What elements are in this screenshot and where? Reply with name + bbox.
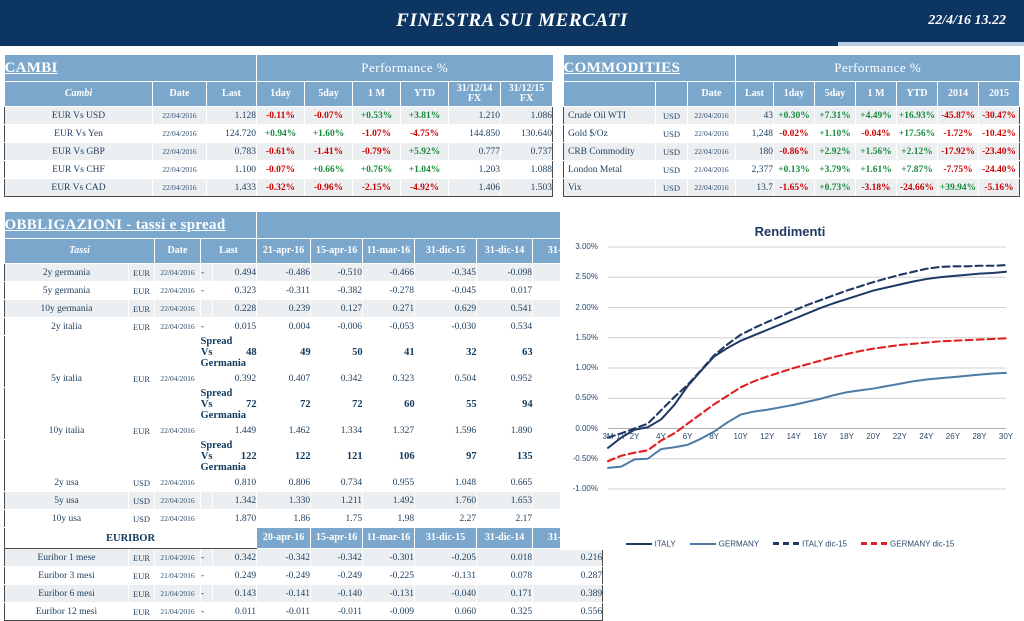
euribor-hist-value: -0.249 (311, 567, 363, 585)
obbligazioni-title-spacer (257, 212, 603, 239)
bond-sign (201, 474, 213, 492)
obbligazioni-title: OBBLIGAZIONI - tassi e spread (5, 212, 257, 239)
cambi-perf-d5: -0.07% (305, 107, 353, 125)
table-row[interactable]: 2y germaniaEUR22/04/2016-0.494-0.486-0.5… (5, 264, 603, 282)
chart-x-tick-label: 16Y (807, 432, 833, 441)
euribor-hist-value: 0.287 (533, 567, 603, 585)
table-row[interactable]: EUR Vs CHF22/04/20161.100-0.07%+0.66%+0.… (5, 161, 553, 179)
spread-pad (5, 388, 201, 422)
bond-currency: EUR (129, 264, 155, 282)
table-row[interactable]: Euribor 3 mesiEUR21/04/2016-0.249-0.249-… (5, 567, 603, 585)
spread-row[interactable]: Spread Vs Germania484950413263104 (5, 336, 603, 370)
commodity-name: Gold $/Oz (564, 125, 656, 143)
bond-date: 22/04/2016 (155, 370, 201, 388)
bond-sign (201, 510, 213, 528)
euribor-date: 21/04/2016 (155, 603, 201, 621)
bond-hist-value: -0.098 (477, 264, 533, 282)
chart-x-tick-label: 4Y (648, 432, 674, 441)
banner-underline-left (0, 42, 838, 46)
spread-value: 60 (363, 388, 415, 422)
table-row[interactable]: Gold $/OzUSD22/04/20161,248-0.02%+1.10%-… (564, 125, 1020, 143)
spread-value: 72 (257, 388, 311, 422)
chart-x-tick-label: 24Y (913, 432, 939, 441)
bond-hist-value: 1.596 (415, 422, 477, 440)
obb-col-15apr: 15-apr-16 (311, 239, 363, 264)
table-row[interactable]: Euribor 12 mesiEUR21/04/2016-0.011-0.011… (5, 603, 603, 621)
cambi-table: CAMBI Performance % Cambi Date Last 1day… (4, 55, 553, 197)
cambi-col-cambi: Cambi (5, 82, 153, 107)
bond-date: 22/04/2016 (155, 510, 201, 528)
bond-currency: USD (129, 492, 155, 510)
chart-legend-item[interactable]: ITALY dic-15 (773, 539, 847, 548)
euribor-hist-value: 0.018 (477, 549, 533, 567)
commodity-date: 22/04/2016 (688, 107, 736, 125)
euribor-date: 21/04/2016 (155, 567, 201, 585)
table-row[interactable]: 2y italiaEUR22/04/2016-0.0150.004-0.006-… (5, 318, 603, 336)
chart-x-tick-label: 26Y (940, 432, 966, 441)
cambi-fx15: 0.737 (501, 143, 553, 161)
bond-hist-value: -0.345 (415, 264, 477, 282)
euribor-last: 0.249 (213, 567, 257, 585)
cambi-last: 1.433 (207, 179, 257, 197)
spread-value: 49 (257, 336, 311, 370)
euribor-last: 0.143 (213, 585, 257, 603)
bond-sign: - (201, 318, 213, 336)
cambi-col-fx14: 31/12/14 FX (449, 82, 501, 107)
cambi-body: EUR Vs USD22/04/20161.128-0.11%-0.07%+0.… (5, 107, 553, 197)
chart-legend-label: ITALY (655, 539, 676, 548)
bond-hist-value: 0.127 (311, 300, 363, 318)
euribor-hist-value: -0.301 (363, 549, 415, 567)
bond-hist-value: 0.734 (311, 474, 363, 492)
euribor-last: 0.342 (213, 549, 257, 567)
euribor-hist-value: -0.131 (363, 585, 415, 603)
chart-x-tick-label: 2Y (622, 432, 648, 441)
commodity-perf-y14: -1.72% (938, 125, 979, 143)
bond-date: 22/04/2016 (155, 492, 201, 510)
bond-hist-value: 1.334 (311, 422, 363, 440)
commodities-body: Crude Oil WTIUSD22/04/201643+0.30%+7.31%… (564, 107, 1020, 197)
bond-date: 22/04/2016 (155, 422, 201, 440)
commodities-performance-group: Performance % (736, 55, 1020, 82)
commodity-perf-y15: -5.16% (979, 179, 1020, 197)
cambi-perf-d1: -0.07% (257, 161, 305, 179)
commodities-col-5day: 5day (815, 82, 856, 107)
cambi-perf-ytd: +3.81% (401, 107, 449, 125)
euribor-hist-value: 0.171 (477, 585, 533, 603)
bond-hist-value: -0.466 (363, 264, 415, 282)
chart-y-tick-label: 3.00% (562, 242, 598, 251)
bond-last: 0.323 (213, 282, 257, 300)
chart-series-line (608, 338, 1006, 461)
bond-hist-value: -0.311 (257, 282, 311, 300)
commodity-name: Crude Oil WTI (564, 107, 656, 125)
commodity-perf-m1: +4.49% (856, 107, 897, 125)
commodities-col-1m: 1 M (856, 82, 897, 107)
bond-last: 0.810 (213, 474, 257, 492)
table-row[interactable]: CRB CommodityUSD22/04/2016180-0.86%+2.92… (564, 143, 1020, 161)
bond-hist-value: -0.510 (311, 264, 363, 282)
commodity-perf-ytd: +16.93% (897, 107, 938, 125)
cambi-fx14: 1.210 (449, 107, 501, 125)
chart-x-tick-label: 18Y (834, 432, 860, 441)
commodity-perf-d1: +0.30% (774, 107, 815, 125)
euribor-name: Euribor 1 mese (5, 549, 129, 567)
bond-name: 2y usa (5, 474, 129, 492)
obb-col-21apr: 21-apr-16 (257, 239, 311, 264)
euribor-hist-value: 0.078 (477, 567, 533, 585)
cambi-fx14: 144.850 (449, 125, 501, 143)
cambi-panel: CAMBI Performance % Cambi Date Last 1day… (4, 55, 552, 197)
commodities-col-ytd: YTD (897, 82, 938, 107)
bond-hist-value: 0.239 (257, 300, 311, 318)
table-row[interactable]: 10y italiaEUR22/04/20161.4491.4621.3341.… (5, 422, 603, 440)
spread-label: Spread Vs Germania (201, 336, 213, 370)
bond-hist-value: -0.006 (311, 318, 363, 336)
cambi-performance-group: Performance % (257, 55, 553, 82)
chart-legend-label: ITALY dic-15 (802, 539, 847, 548)
cambi-date: 22/04/2016 (153, 125, 207, 143)
commodity-name: CRB Commodity (564, 143, 656, 161)
table-row[interactable]: 2y usaUSD22/04/20160.8100.8060.7340.9551… (5, 474, 603, 492)
euribor-hist-value: -0.040 (415, 585, 477, 603)
commodity-perf-d5: +7.31% (815, 107, 856, 125)
euribor-hist-value: -0.011 (311, 603, 363, 621)
bond-hist-value: 0.504 (415, 370, 477, 388)
chart-legend: ITALYGERMANYITALY dic-15GERMANY dic-15 (560, 539, 1020, 548)
chart-legend-swatch (626, 543, 652, 545)
table-row[interactable]: EUR Vs GBP22/04/20160.783-0.61%-1.41%-0.… (5, 143, 553, 161)
commodity-perf-y14: -7.75% (938, 161, 979, 179)
euribor-label: EURIBOR (5, 528, 257, 549)
commodity-currency: USD (656, 179, 688, 197)
bond-hist-value: -0.045 (415, 282, 477, 300)
chart-y-tick-label: -1.00% (562, 484, 598, 493)
spread-value: 50 (311, 336, 363, 370)
spread-value: 32 (415, 336, 477, 370)
bond-last: 1.342 (213, 492, 257, 510)
chart-x-tick-label: 14Y (781, 432, 807, 441)
commodity-perf-d5: +2.92% (815, 143, 856, 161)
cambi-perf-m1: +0.53% (353, 107, 401, 125)
commodity-name: London Metal (564, 161, 656, 179)
banner-timestamp: 22/4/16 13.22 (928, 13, 1006, 29)
bond-name: 2y germania (5, 264, 129, 282)
cambi-col-5day: 5day (305, 82, 353, 107)
euribor-hist-value: 0.556 (533, 603, 603, 621)
bond-hist-value: -0.030 (415, 318, 477, 336)
commodity-perf-y15: -23.40% (979, 143, 1020, 161)
bond-hist-value: 1.211 (311, 492, 363, 510)
commodity-last: 1,248 (736, 125, 774, 143)
chart-y-tick-label: 1.00% (562, 363, 598, 372)
chart-y-tick-label: 0.00% (562, 424, 598, 433)
table-row[interactable]: EUR Vs CAD22/04/20161.433-0.32%-0.96%-2.… (5, 179, 553, 197)
euribor-col-5: 31-dic-14 (477, 528, 533, 549)
table-row[interactable]: Euribor 1 meseEUR21/04/2016-0.342-0.342-… (5, 549, 603, 567)
commodities-title: COMMODITIES (564, 55, 688, 82)
table-row[interactable]: 10y germaniaEUR22/04/20160.2280.2390.127… (5, 300, 603, 318)
commodity-perf-d1: -1.65% (774, 179, 815, 197)
bond-currency: EUR (129, 282, 155, 300)
bond-hist-value: 1.327 (363, 422, 415, 440)
cambi-pair-name: EUR Vs GBP (5, 143, 153, 161)
table-row[interactable]: London MetalUSD21/04/20162,377+0.13%+3.7… (564, 161, 1020, 179)
obb-col-11mar: 11-mar-16 (363, 239, 415, 264)
euribor-hist-value: 0.325 (477, 603, 533, 621)
chart-y-tick-label: 0.50% (562, 393, 598, 402)
spread-value: 55 (415, 388, 477, 422)
bond-sign (201, 492, 213, 510)
commodities-table: COMMODITIES Performance % Date Last 1day… (563, 55, 1020, 197)
cambi-perf-d5: -0.96% (305, 179, 353, 197)
cambi-perf-ytd: -4.75% (401, 125, 449, 143)
cambi-fx14: 0.777 (449, 143, 501, 161)
commodities-col-name (564, 82, 656, 107)
bond-date: 22/04/2016 (155, 318, 201, 336)
bond-name: 5y usa (5, 492, 129, 510)
bond-hist-value: 2.17 (477, 510, 533, 528)
obbligazioni-panel: OBBLIGAZIONI - tassi e spread Tassi Date… (4, 212, 552, 621)
chart-series-line (608, 272, 1006, 448)
euribor-hist-value: 0.060 (415, 603, 477, 621)
bond-sign (201, 370, 213, 388)
chart-x-tick-label: 20Y (860, 432, 886, 441)
spread-label: Spread Vs Germania (201, 440, 213, 474)
table-row[interactable]: Euribor 6 mesiEUR21/04/2016-0.143-0.141-… (5, 585, 603, 603)
bond-hist-value: 1.653 (477, 492, 533, 510)
cambi-date: 22/04/2016 (153, 107, 207, 125)
cambi-date: 22/04/2016 (153, 161, 207, 179)
cambi-col-last: Last (207, 82, 257, 107)
table-row[interactable]: VixUSD22/04/201613.7-1.65%+0.73%-3.18%-2… (564, 179, 1020, 197)
commodities-title-row: COMMODITIES Performance % (564, 55, 1020, 82)
commodity-perf-ytd: +7.87% (897, 161, 938, 179)
bond-hist-value: 1.890 (477, 422, 533, 440)
bond-hist-value: 0.271 (363, 300, 415, 318)
commodity-perf-m1: +1.61% (856, 161, 897, 179)
cambi-col-fx15: 31/12/15 FX (501, 82, 553, 107)
rendimenti-chart-panel: Rendimenti 3.00%2.50%2.00%1.50%1.00%0.50… (560, 212, 1020, 550)
table-row[interactable]: 5y germaniaEUR22/04/2016-0.323-0.311-0.3… (5, 282, 603, 300)
cambi-last: 124.720 (207, 125, 257, 143)
cambi-pair-name: EUR Vs CHF (5, 161, 153, 179)
euribor-name: Euribor 6 mesi (5, 585, 129, 603)
spread-value: 63 (477, 336, 533, 370)
commodity-date: 21/04/2016 (688, 161, 736, 179)
chart-legend-item[interactable]: ITALY (626, 539, 676, 548)
page-banner: FINESTRA SUI MERCATI 22/4/16 13.22 (0, 0, 1024, 42)
chart-x-tick-label: 30Y (993, 432, 1019, 441)
table-row[interactable]: 5y usaUSD22/04/20161.3421.3301.2111.4921… (5, 492, 603, 510)
obb-col-31dic14: 31-dic-14 (477, 239, 533, 264)
spread-value: 121 (311, 440, 363, 474)
commodity-perf-d1: -0.86% (774, 143, 815, 161)
commodity-last: 13.7 (736, 179, 774, 197)
obb-col-last: Last (201, 239, 257, 264)
bond-currency: EUR (129, 318, 155, 336)
commodity-perf-y15: -10.42% (979, 125, 1020, 143)
chart-legend-item[interactable]: GERMANY (690, 539, 759, 548)
cambi-title-row: CAMBI Performance % (5, 55, 553, 82)
commodity-perf-ytd: +2.12% (897, 143, 938, 161)
bond-sign: - (201, 264, 213, 282)
bond-name: 2y italia (5, 318, 129, 336)
commodity-perf-m1: +1.56% (856, 143, 897, 161)
bond-currency: USD (129, 474, 155, 492)
bond-name: 10y usa (5, 510, 129, 528)
chart-y-tick-label: -0.50% (562, 454, 598, 463)
spread-value: 122 (257, 440, 311, 474)
chart-series-line (608, 373, 1006, 468)
bond-sign (201, 300, 213, 318)
bond-hist-value: -0.278 (363, 282, 415, 300)
bond-hist-value: 0.665 (477, 474, 533, 492)
commodity-currency: USD (656, 161, 688, 179)
commodity-date: 22/04/2016 (688, 143, 736, 161)
euribor-hist-value: -0.342 (311, 549, 363, 567)
bond-last: 0.494 (213, 264, 257, 282)
bond-hist-value: 2.27 (415, 510, 477, 528)
chart-x-tick-label: 10Y (728, 432, 754, 441)
obbligazioni-title-row: OBBLIGAZIONI - tassi e spread (5, 212, 603, 239)
table-row[interactable]: 5y italiaEUR22/04/20160.3920.4070.3420.3… (5, 370, 603, 388)
cambi-perf-ytd: +5.92% (401, 143, 449, 161)
euribor-sign: - (201, 567, 213, 585)
obb-col-31dic15: 31-dic-15 (415, 239, 477, 264)
bond-hist-value: 1.492 (363, 492, 415, 510)
bond-currency: USD (129, 510, 155, 528)
cambi-title: CAMBI (5, 55, 257, 82)
cambi-last: 0.783 (207, 143, 257, 161)
bond-hist-value: 0.806 (257, 474, 311, 492)
commodities-col-1day: 1day (774, 82, 815, 107)
bond-sign: - (201, 282, 213, 300)
bond-last: 1.449 (213, 422, 257, 440)
euribor-sign: - (201, 585, 213, 603)
bond-last: 1.870 (213, 510, 257, 528)
table-row[interactable]: 10y usaUSD22/04/20161.8701.861.751.982.2… (5, 510, 603, 528)
euribor-currency: EUR (129, 567, 155, 585)
table-row[interactable]: EUR Vs Yen22/04/2016124.720+0.94%+1.60%-… (5, 125, 553, 143)
spread-value: 72 (311, 388, 363, 422)
cambi-perf-m1: -0.79% (353, 143, 401, 161)
table-row[interactable]: Crude Oil WTIUSD22/04/201643+0.30%+7.31%… (564, 107, 1020, 125)
cambi-perf-ytd: -4.92% (401, 179, 449, 197)
cambi-perf-m1: -2.15% (353, 179, 401, 197)
cambi-fx14: 1.406 (449, 179, 501, 197)
cambi-col-1day: 1day (257, 82, 305, 107)
commodity-perf-ytd: +17.56% (897, 125, 938, 143)
cambi-perf-d1: -0.61% (257, 143, 305, 161)
spread-value: 135 (477, 440, 533, 474)
commodity-perf-y14: -17.92% (938, 143, 979, 161)
euribor-name: Euribor 12 mesi (5, 603, 129, 621)
cambi-perf-m1: -1.07% (353, 125, 401, 143)
commodities-col-2015: 2015 (979, 82, 1020, 107)
cambi-perf-d5: -1.41% (305, 143, 353, 161)
bond-name: 5y italia (5, 370, 129, 388)
commodities-header-row: Date Last 1day 5day 1 M YTD 2014 2015 (564, 82, 1020, 107)
chart-legend-swatch (861, 542, 887, 545)
bond-date: 22/04/2016 (155, 474, 201, 492)
bond-hist-value: -0.382 (311, 282, 363, 300)
bond-date: 22/04/2016 (155, 264, 201, 282)
bond-hist-value: 0.952 (477, 370, 533, 388)
cambi-perf-d1: +0.94% (257, 125, 305, 143)
spread-label: Spread Vs Germania (201, 388, 213, 422)
euribor-col-1: 20-apr-16 (257, 528, 311, 549)
commodity-perf-y14: -45.87% (938, 107, 979, 125)
market-window-page: FINESTRA SUI MERCATI 22/4/16 13.22 CAMBI… (0, 0, 1024, 555)
chart-svg (560, 239, 1020, 539)
euribor-hist-value: -0.131 (415, 567, 477, 585)
euribor-currency: EUR (129, 585, 155, 603)
euribor-hist-value: -0.342 (257, 549, 311, 567)
cambi-perf-d1: -0.32% (257, 179, 305, 197)
cambi-fx15: 1.088 (501, 161, 553, 179)
spread-row[interactable]: Spread Vs Germania727272605594181 (5, 388, 603, 422)
chart-legend-label: GERMANY (719, 539, 759, 548)
cambi-pair-name: EUR Vs Yen (5, 125, 153, 143)
cambi-perf-ytd: +1.04% (401, 161, 449, 179)
chart-plot-area: 3.00%2.50%2.00%1.50%1.00%0.50%0.00%-0.50… (560, 239, 1020, 539)
spread-value: 97 (415, 440, 477, 474)
table-row[interactable]: EUR Vs USD22/04/20161.128-0.11%-0.07%+0.… (5, 107, 553, 125)
cambi-date: 22/04/2016 (153, 143, 207, 161)
euribor-currency: EUR (129, 549, 155, 567)
chart-y-tick-label: 2.00% (562, 303, 598, 312)
euribor-hist-value: -0.140 (311, 585, 363, 603)
bond-hist-value: 1.75 (311, 510, 363, 528)
euribor-last: 0.011 (213, 603, 257, 621)
commodities-title-spacer (688, 55, 736, 82)
commodities-col-2014: 2014 (938, 82, 979, 107)
cambi-last: 1.128 (207, 107, 257, 125)
bond-hist-value: 1.462 (257, 422, 311, 440)
cambi-fx15: 1.086 (501, 107, 553, 125)
euribor-col-3: 11-mar-16 (363, 528, 415, 549)
bond-hist-value: 0.342 (311, 370, 363, 388)
chart-x-tick-label: 22Y (887, 432, 913, 441)
obbligazioni-body: 2y germaniaEUR22/04/2016-0.494-0.486-0.5… (5, 264, 603, 621)
bond-currency: EUR (129, 370, 155, 388)
bond-hist-value: 0.534 (477, 318, 533, 336)
bond-hist-value: 1.98 (363, 510, 415, 528)
bond-hist-value: 0.004 (257, 318, 311, 336)
bond-hist-value: 0.541 (477, 300, 533, 318)
bond-hist-value: 1.330 (257, 492, 311, 510)
euribor-date: 21/04/2016 (155, 549, 201, 567)
commodity-date: 22/04/2016 (688, 179, 736, 197)
chart-legend-item[interactable]: GERMANY dic-15 (861, 539, 954, 548)
cambi-perf-d1: -0.11% (257, 107, 305, 125)
euribor-hist-value: -0.011 (257, 603, 311, 621)
cambi-perf-d5: +0.66% (305, 161, 353, 179)
euribor-hist-value: -0.141 (257, 585, 311, 603)
euribor-sign: - (201, 549, 213, 567)
chart-y-tick-label: 1.50% (562, 333, 598, 342)
cambi-pair-name: EUR Vs USD (5, 107, 153, 125)
euribor-hist-value: 0.216 (533, 549, 603, 567)
chart-x-tick-label: 8Y (701, 432, 727, 441)
bond-sign (201, 422, 213, 440)
commodity-perf-d1: -0.02% (774, 125, 815, 143)
commodity-perf-d5: +3.79% (815, 161, 856, 179)
spread-row[interactable]: Spread Vs Germania12212212110697135220 (5, 440, 603, 474)
euribor-date: 21/04/2016 (155, 585, 201, 603)
commodity-currency: USD (656, 125, 688, 143)
